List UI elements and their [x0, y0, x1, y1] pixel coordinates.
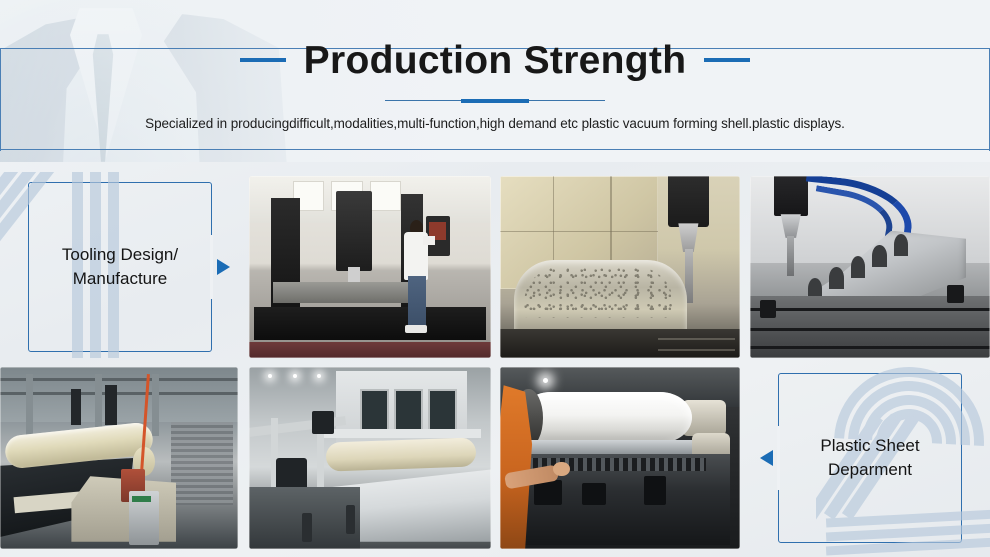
underline-thin-left — [385, 100, 461, 101]
page-title: Production Strength — [304, 41, 687, 80]
section-tooling-row: Tooling Design/ Manufacture — [0, 176, 990, 358]
tooling-card-label: Tooling Design/ Manufacture — [0, 243, 240, 291]
arrow-left-icon[interactable] — [760, 450, 773, 466]
photo-6-edge — [500, 367, 740, 549]
underline-thick-center — [461, 99, 529, 103]
photo-mold-milling-chips[interactable] — [500, 176, 740, 358]
title-underline-decoration — [385, 99, 605, 102]
tooling-label-line2: Manufacture — [14, 267, 226, 291]
section-plastic-sheet-row: Plastic Sheet Deparment — [0, 367, 990, 549]
photo-4-edge — [0, 367, 238, 549]
photo-2-edge — [500, 176, 740, 358]
title-row: Production Strength — [0, 36, 990, 84]
plastic-sheet-label-card[interactable]: Plastic Sheet Deparment — [750, 367, 990, 549]
tooling-label-card[interactable]: Tooling Design/ Manufacture — [0, 176, 240, 358]
plastic-sheet-card-label: Plastic Sheet Deparment — [750, 434, 990, 482]
tooling-label-line1: Tooling Design/ — [14, 243, 226, 267]
underline-thin-right — [529, 100, 605, 101]
plastic-sheet-label-line1: Plastic Sheet — [764, 434, 976, 458]
photo-sheet-conveyor-line[interactable] — [249, 367, 491, 549]
photo-cnc-gantry-machining-center[interactable] — [249, 176, 491, 358]
photo-calender-roller-operator[interactable] — [500, 367, 740, 549]
title-dash-left-icon — [240, 58, 286, 62]
arrow-right-icon[interactable] — [217, 259, 230, 275]
title-dash-right-icon — [704, 58, 750, 62]
photo-3-edge — [750, 176, 990, 358]
header-banner: Production Strength Specialized in produ… — [0, 0, 990, 162]
photo-cnc-milling-coolant-hose[interactable] — [750, 176, 990, 358]
banner-subtitle: Specialized in producingdifficult,modali… — [0, 116, 990, 131]
photo-5-edge — [249, 367, 491, 549]
photo-1-edge — [249, 176, 491, 358]
plastic-sheet-label-line2: Deparment — [764, 458, 976, 482]
production-strength-banner-page: Production Strength Specialized in produ… — [0, 0, 990, 557]
photo-extrusion-line-overview[interactable] — [0, 367, 238, 549]
